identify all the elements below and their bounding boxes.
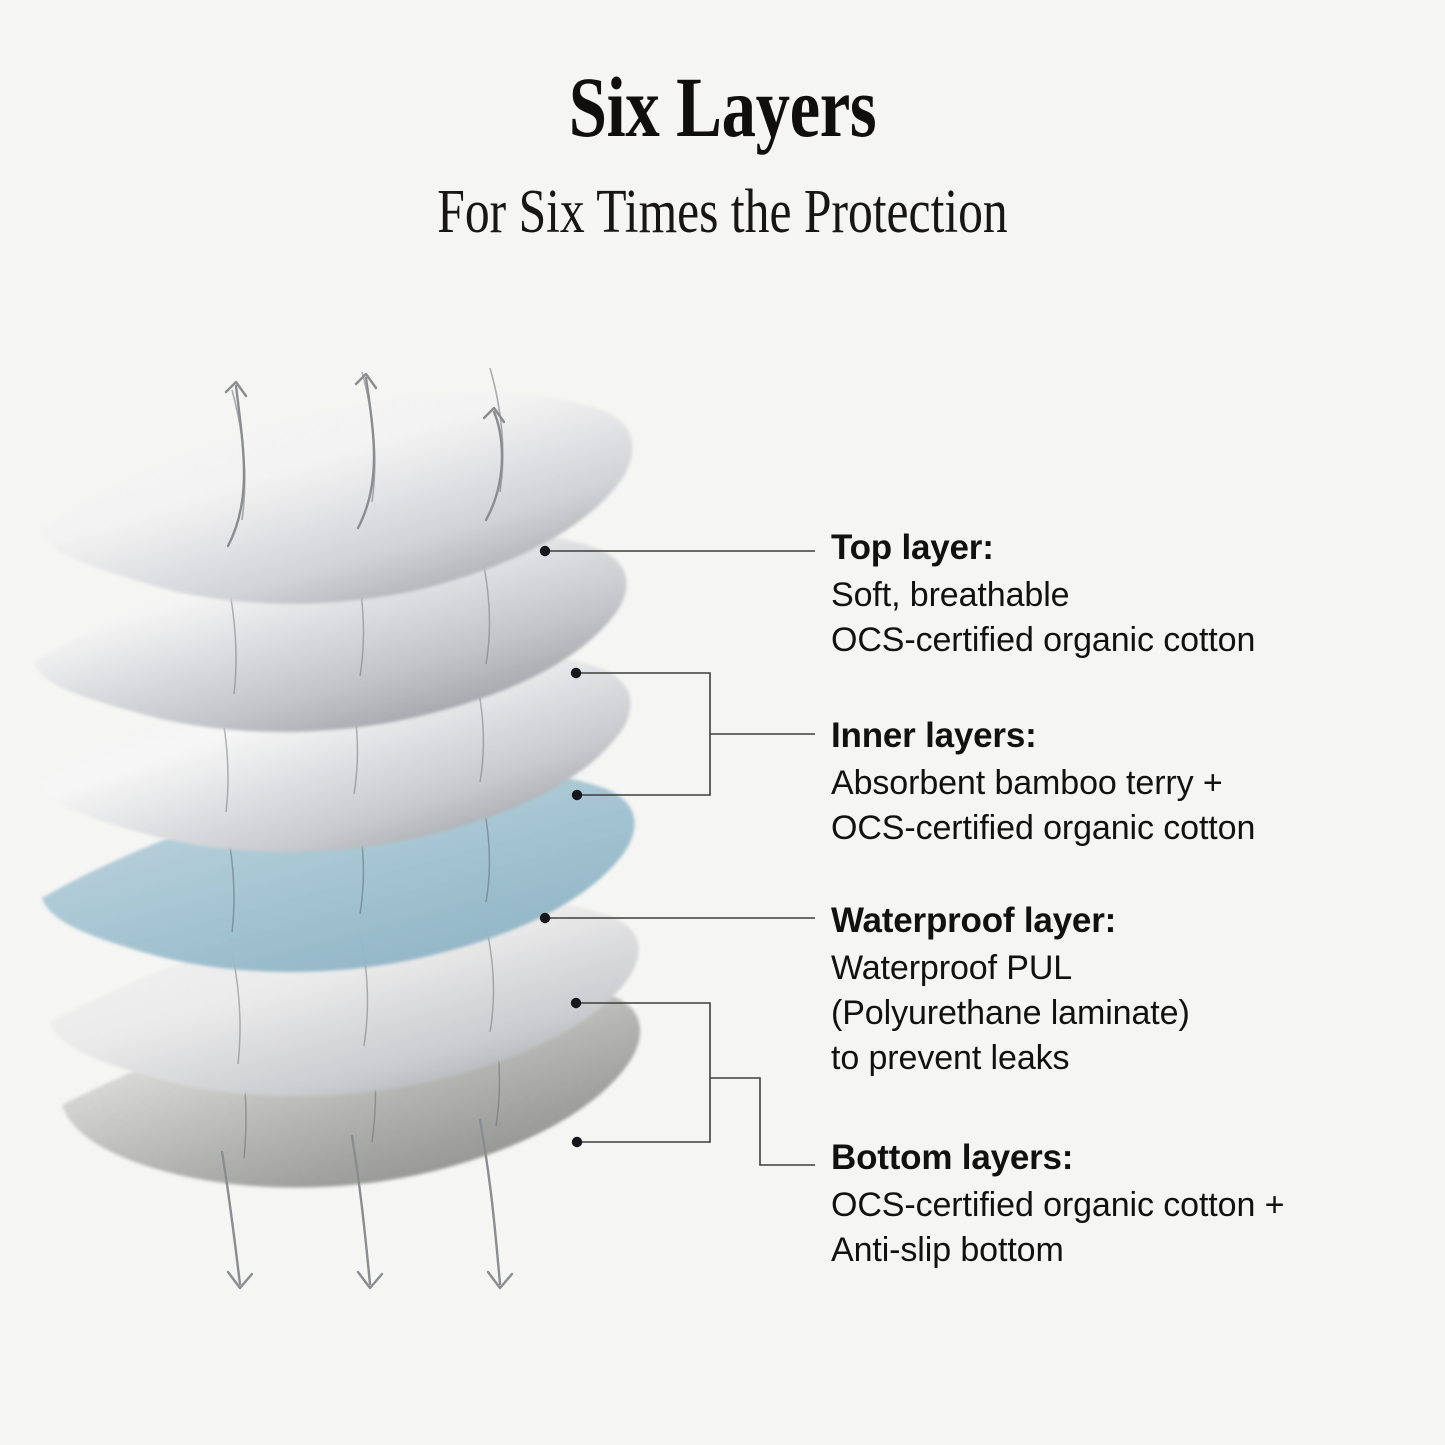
callout-inner-layers: Inner layers: Absorbent bamboo terry + O… [831,713,1431,851]
callout-line: OCS-certified organic cotton + [831,1183,1431,1228]
callout-line: Absorbent bamboo terry + [831,761,1431,806]
callout-title-top-layer: Top layer: [831,525,1431,571]
callout-title-waterproof-layer: Waterproof layer: [831,898,1431,944]
callout-line: Anti-slip bottom [831,1228,1431,1273]
callout-line: (Polyurethane laminate) [831,991,1431,1036]
layer-stack-illustration [0,0,820,1000]
callout-line: to prevent leaks [831,1036,1431,1081]
callout-top-layer: Top layer: Soft, breathable OCS-certifie… [831,525,1431,663]
callout-title-inner-layers: Inner layers: [831,713,1431,759]
callout-body-bottom-layers: OCS-certified organic cotton + Anti-slip… [831,1183,1431,1273]
callout-line: Soft, breathable [831,573,1431,618]
callout-line: Waterproof PUL [831,946,1431,991]
callout-title-bottom-layers: Bottom layers: [831,1135,1431,1181]
callout-bottom-layers: Bottom layers: OCS-certified organic cot… [831,1135,1431,1273]
callout-body-top-layer: Soft, breathable OCS-certified organic c… [831,573,1431,663]
callout-waterproof-layer: Waterproof layer: Waterproof PUL (Polyur… [831,898,1431,1081]
callout-body-inner-layers: Absorbent bamboo terry + OCS-certified o… [831,761,1431,851]
infographic-canvas: Six Layers For Six Times the Protection [0,0,1445,1445]
callout-body-waterproof-layer: Waterproof PUL (Polyurethane laminate) t… [831,946,1431,1082]
callout-line: OCS-certified organic cotton [831,806,1431,851]
callout-line: OCS-certified organic cotton [831,618,1431,663]
